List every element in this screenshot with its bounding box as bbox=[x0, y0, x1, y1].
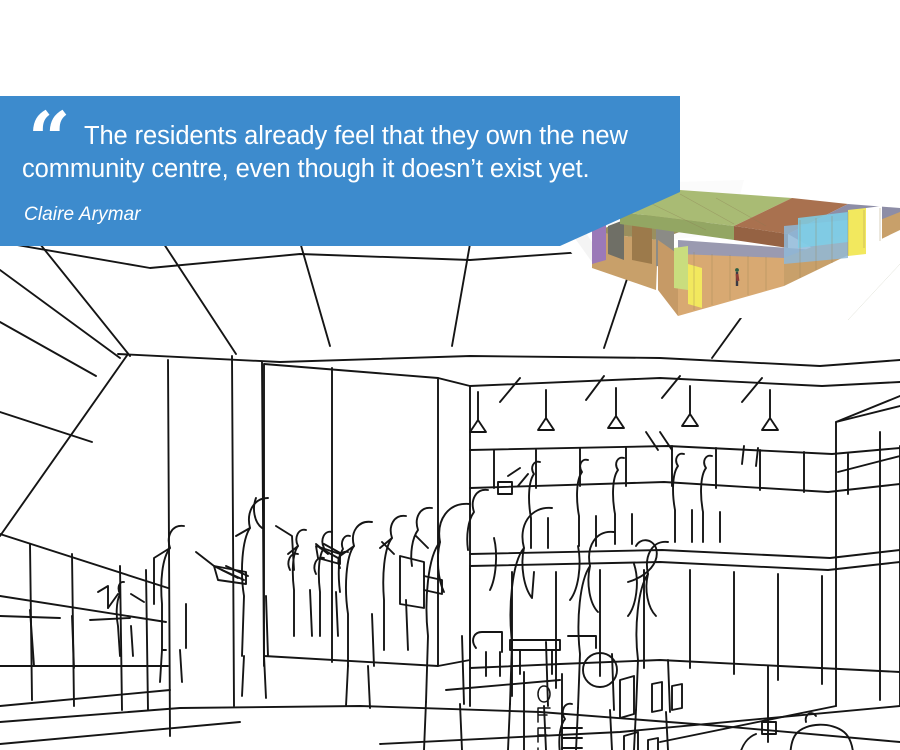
panel-dark-left bbox=[608, 220, 624, 260]
panel-white bbox=[866, 206, 882, 254]
quote-attribution: Claire Arymar bbox=[22, 186, 660, 226]
pull-quote-banner: “ The residents already feel that they o… bbox=[0, 96, 680, 246]
panel-lime-a bbox=[674, 246, 688, 290]
page-root: “ The residents already feel that they o… bbox=[0, 0, 900, 750]
panel-yellow bbox=[848, 208, 866, 256]
glass-cyan bbox=[798, 212, 848, 248]
quotation-mark-icon: “ bbox=[28, 110, 69, 170]
pull-quote-content: “ The residents already feel that they o… bbox=[22, 110, 660, 226]
quote-text: The residents already feel that they own… bbox=[22, 110, 660, 186]
panel-yellow-b bbox=[688, 264, 702, 308]
